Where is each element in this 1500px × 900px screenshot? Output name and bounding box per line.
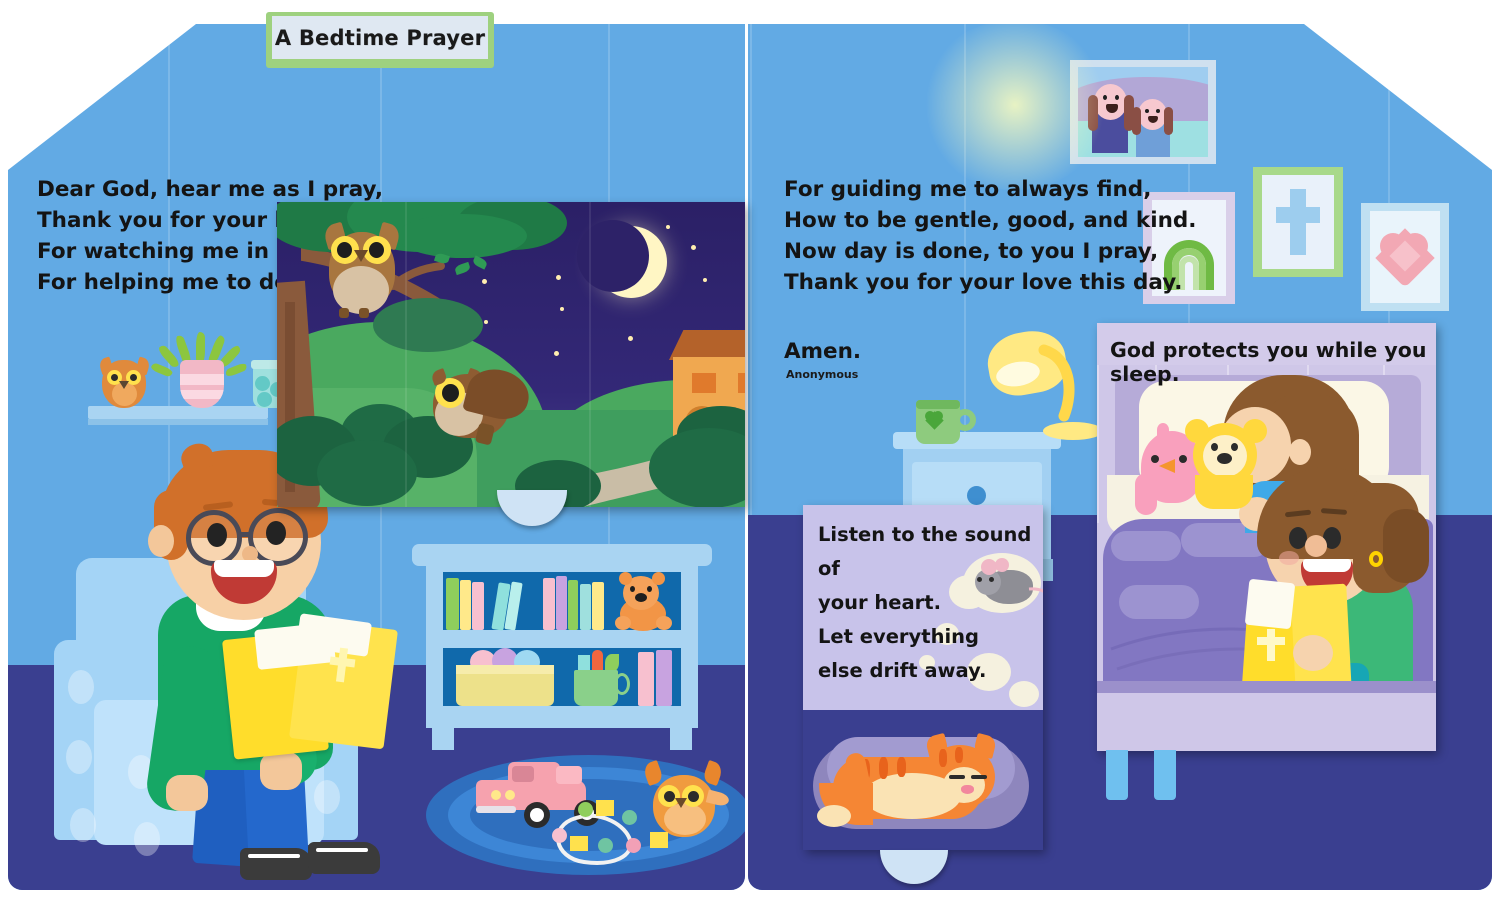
cross-icon — [1257, 637, 1285, 645]
title-banner: A Bedtime Prayer — [272, 16, 488, 59]
earring-icon — [1369, 551, 1383, 567]
poem-right: For guiding me to always find, How to be… — [784, 174, 1196, 298]
book-spread: Listen to the sound of your heart. Let e… — [0, 0, 1500, 900]
page-title: A Bedtime Prayer — [275, 26, 485, 50]
bed-flap-caption: God protects you while you sleep. — [1110, 338, 1492, 386]
poem-right-line-4: Thank you for your love this day. — [784, 267, 1196, 298]
listen-line-2: your heart. — [818, 586, 1033, 620]
listen-line-3: Let everything — [818, 620, 1033, 654]
bed-scene-flap[interactable] — [1097, 323, 1436, 751]
right-page: Listen to the sound of your heart. Let e… — [748, 10, 1492, 890]
poem-right-line-1: For guiding me to always find, — [784, 174, 1196, 205]
poem-amen: Amen. — [784, 339, 861, 364]
listen-flap-text: Listen to the sound of your heart. Let e… — [818, 518, 1033, 688]
bed-leg-left-2 — [1154, 750, 1176, 800]
bed-leg-left — [1106, 750, 1128, 800]
listen-line-1: Listen to the sound of — [818, 518, 1033, 586]
poem-attribution: Anonymous — [786, 368, 858, 381]
poem-right-line-3: Now day is done, to you I pray, — [784, 236, 1196, 267]
cross-icon — [1276, 207, 1320, 223]
listen-line-4: else drift away. — [818, 654, 1033, 688]
cross-icon — [1267, 629, 1275, 661]
poem-left-line-1: Dear God, hear me as I pray, — [37, 174, 383, 205]
poem-right-line-2: How to be gentle, good, and kind. — [784, 205, 1196, 236]
night-scene-flap[interactable] — [277, 202, 745, 507]
